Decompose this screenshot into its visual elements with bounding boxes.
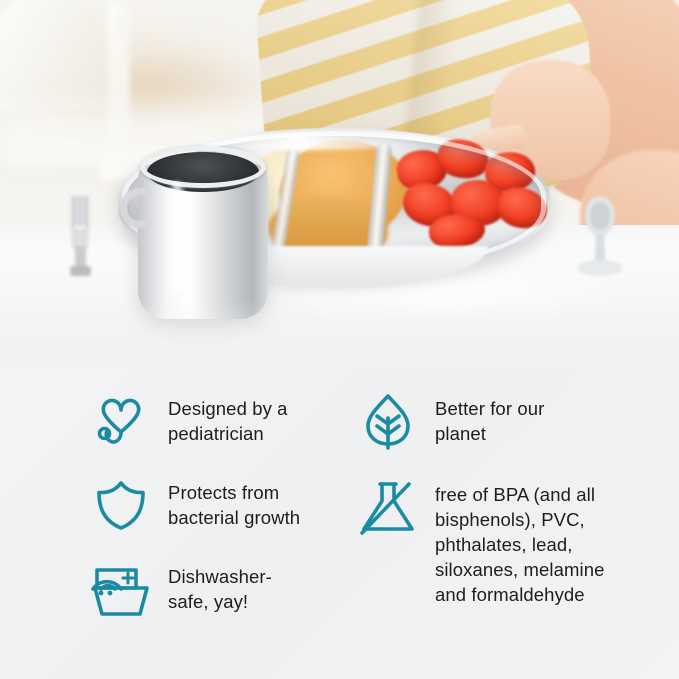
feature-label: Dishwasher- safe, yay! — [168, 556, 272, 614]
features-right-column: Better for our planet free of BPA (and a… — [355, 388, 645, 607]
stainless-steel-cup — [138, 164, 268, 319]
product-feature-image: Designed by a pediatrician Protects from… — [0, 0, 679, 679]
feature-protects-from-bacterial-growth: Protects from bacterial growth — [88, 472, 343, 538]
cup-highlight — [168, 182, 186, 292]
heart-stethoscope-icon — [88, 388, 154, 454]
feature-label: Better for our planet — [435, 388, 544, 446]
feature-better-for-our-planet: Better for our planet — [355, 388, 645, 454]
fork — [58, 196, 102, 278]
leaf-icon — [355, 388, 421, 454]
feature-label: Designed by a pediatrician — [168, 388, 288, 446]
feature-free-of-chemicals: free of BPA (and all bisphenols), PVC, p… — [355, 474, 645, 607]
feature-label: Protects from bacterial growth — [168, 472, 300, 530]
dishwasher-icon — [88, 556, 154, 622]
photo-panel-fade — [0, 300, 679, 372]
feature-dishwasher-safe: Dishwasher- safe, yay! — [88, 556, 343, 622]
feature-designed-by-pediatrician: Designed by a pediatrician — [88, 388, 343, 454]
shield-icon — [88, 472, 154, 538]
features-left-column: Designed by a pediatrician Protects from… — [88, 388, 343, 622]
product-photo — [0, 0, 679, 372]
feature-label: free of BPA (and all bisphenols), PVC, p… — [435, 474, 605, 607]
features-panel: Designed by a pediatrician Protects from… — [0, 366, 679, 679]
spoon — [578, 196, 622, 282]
cup-rim — [140, 146, 266, 188]
flask-crossed-out-icon — [355, 474, 421, 540]
